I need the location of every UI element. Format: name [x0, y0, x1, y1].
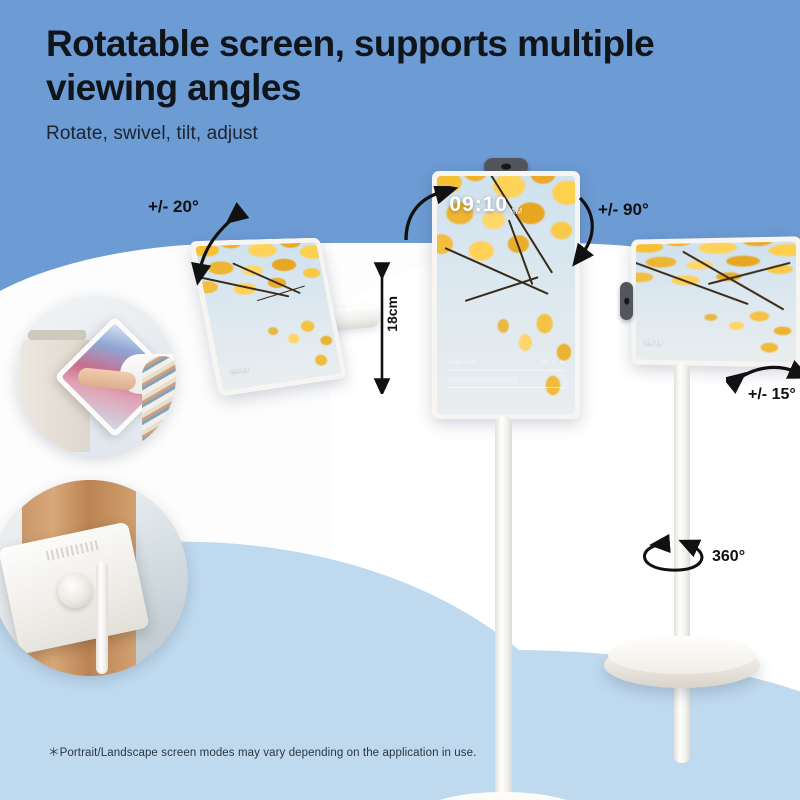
page-title: Rotatable screen, supports multiple view… — [46, 22, 686, 109]
display-right-screen: 09:10 — [636, 242, 796, 363]
product-feature-slide: Rotatable screen, supports multiple view… — [0, 0, 800, 800]
annotation-swivel-360-label: 360° — [712, 548, 745, 565]
display-center-widget[interactable]: Smart bulb ⏮ ⏸ ⏭ Connected device, playi… — [447, 360, 566, 395]
inset-window — [136, 480, 188, 676]
inset-pole — [96, 562, 108, 674]
display-right-panel: 09:10 — [631, 236, 800, 367]
inset-countertop — [28, 330, 86, 340]
play-pause-icon[interactable]: ⏸ — [552, 360, 555, 367]
widget-row[interactable]: Smart bulb ⏮ ⏸ ⏭ — [447, 360, 566, 371]
rotate-90-arrow-left-icon — [398, 186, 468, 256]
display-right-base-top — [608, 636, 756, 674]
inset-rear-mount — [0, 480, 188, 676]
heading-block: Rotatable screen, supports multiple view… — [46, 22, 686, 145]
widget-row-title: Connected device, playing — [447, 378, 517, 384]
next-icon[interactable]: ⏭ — [560, 360, 565, 367]
inset-knit-fabric — [142, 356, 176, 456]
display-center-clock-meridiem: AM — [510, 207, 522, 216]
inset-vent — [46, 540, 101, 561]
widget-row[interactable]: Connected device, playing — [447, 378, 566, 388]
annotation-tilt-15: +/- 15° — [748, 386, 796, 404]
annotation-swivel-360: 360° — [712, 548, 745, 566]
inset-swivel-hinge — [58, 574, 92, 608]
display-right[interactable]: 09:10 — [614, 238, 800, 678]
webcam-icon — [620, 282, 633, 320]
prev-icon[interactable]: ⏮ — [542, 360, 547, 367]
media-controls[interactable]: ⏮ ⏸ ⏭ — [542, 360, 566, 367]
display-center-pole — [495, 416, 512, 800]
footnote: ＊Portrait/Landscape screen modes may var… — [48, 744, 476, 760]
inset-hand-adjust — [16, 296, 176, 456]
widget-row-title: Smart bulb — [447, 360, 476, 366]
dimension-label: 18cm — [384, 296, 400, 332]
annotation-tilt-15-label: +/- 15° — [748, 386, 796, 403]
display-right-clock: 09:10 — [645, 339, 662, 346]
tilt-20-arrow-icon — [160, 200, 270, 290]
page-subtitle: Rotate, swivel, tilt, adjust — [46, 123, 686, 145]
